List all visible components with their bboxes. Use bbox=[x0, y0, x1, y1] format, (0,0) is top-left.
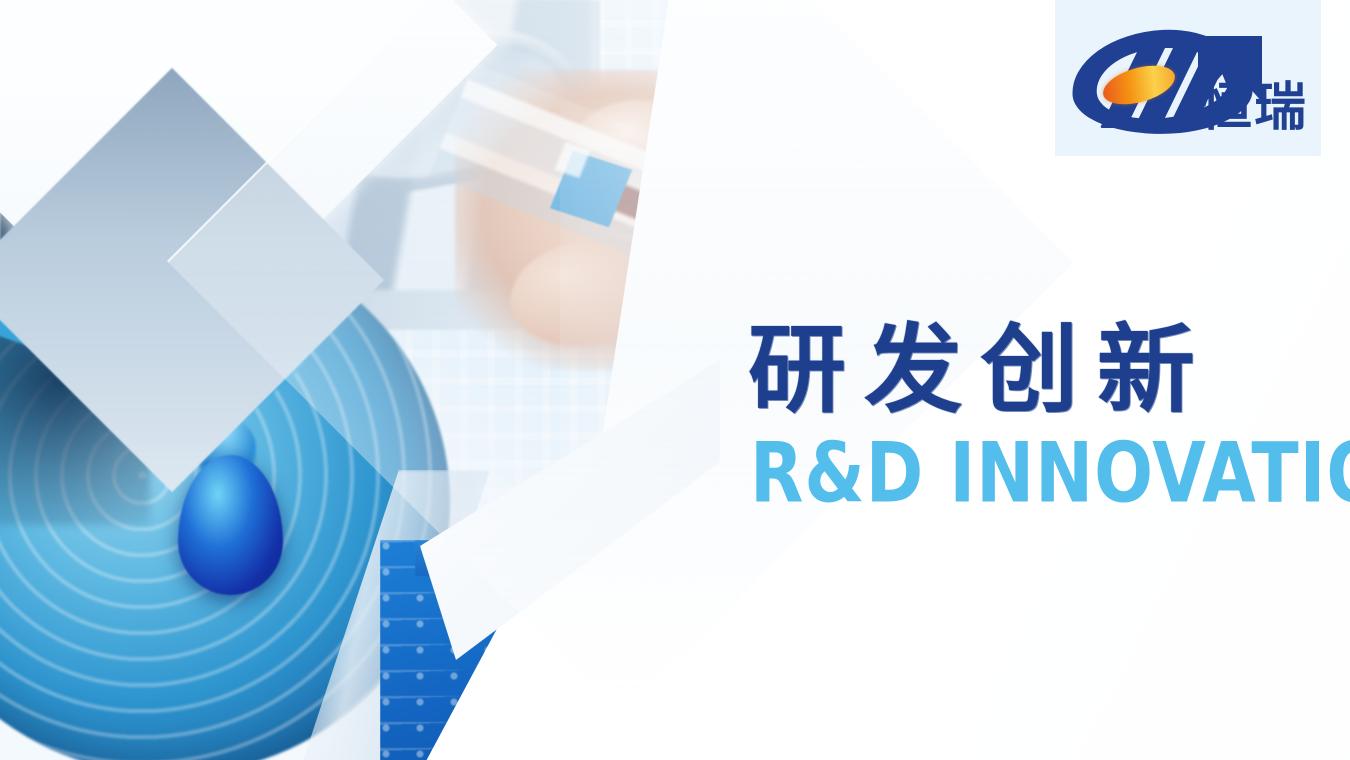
logo-company-name: 恒瑞 bbox=[1200, 82, 1308, 134]
headline-chinese: 研发创新 bbox=[748, 322, 1350, 418]
headline-english: R&D INNOVATION bbox=[750, 432, 1350, 515]
rd-innovation-banner: 研发创新 R&D INNOVATION 恒瑞 bbox=[0, 0, 1350, 760]
headline-block: 研发创新 R&D INNOVATION bbox=[748, 322, 1350, 502]
hengrui-logo: 恒瑞 bbox=[1072, 24, 1302, 144]
